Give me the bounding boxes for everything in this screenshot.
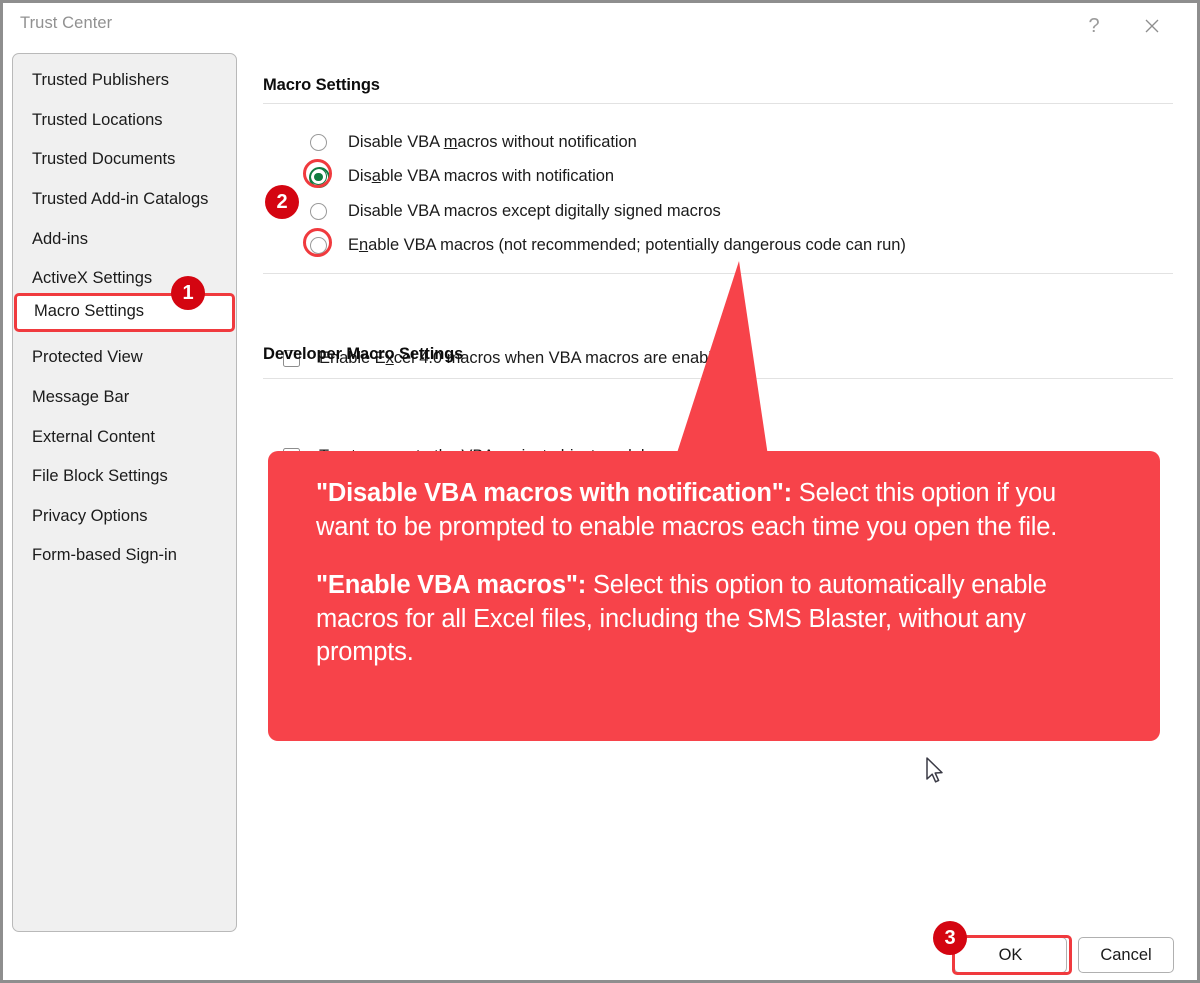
radio-icon[interactable] [310, 237, 327, 254]
sidebar-item-label: Privacy Options [32, 507, 148, 526]
sidebar-item-message-bar[interactable]: Message Bar [13, 378, 236, 418]
radio-icon[interactable] [310, 134, 327, 151]
title-bar: Trust Center ? [3, 3, 1197, 47]
radio-label-pre: Disable VBA macros except di [348, 202, 568, 220]
radio-label: Enable VBA macros (not recommended; pote… [348, 236, 906, 255]
mouse-cursor [925, 757, 947, 787]
cancel-button-label: Cancel [1100, 946, 1151, 965]
window-title: Trust Center [20, 14, 112, 33]
sidebar-item-label: Form-based Sign-in [32, 546, 177, 565]
radio-label-post: itally signed macros [577, 202, 721, 220]
sidebar-item-label: Protected View [32, 348, 143, 367]
sidebar-item-trusted-documents[interactable]: Trusted Documents [13, 140, 236, 180]
radio-label: Disable VBA macros with notification [348, 167, 614, 186]
sidebar-item-add-ins[interactable]: Add-ins [13, 219, 236, 259]
radio-label-post: acros without notification [457, 133, 636, 151]
sidebar-item-label: ActiveX Settings [32, 269, 152, 288]
radio-label-pre: Disable VBA [348, 133, 444, 151]
callout-p2-bold: "Enable VBA macros": [316, 571, 586, 599]
ok-button-label: OK [999, 946, 1023, 965]
radio-label-accel: a [372, 167, 381, 185]
radio-label: Disable VBA macros except digitally sign… [348, 202, 721, 221]
sidebar-item-trusted-locations[interactable]: Trusted Locations [13, 101, 236, 141]
radio-label: Disable VBA macros without notification [348, 133, 637, 152]
sidebar-item-trusted-publishers[interactable]: Trusted Publishers [13, 61, 236, 101]
radio-icon[interactable] [310, 203, 327, 220]
step-badge-2: 2 [265, 185, 299, 219]
callout-p1-bold: "Disable VBA macros with notification": [316, 479, 792, 507]
sidebar-item-file-block-settings[interactable]: File Block Settings [13, 457, 236, 497]
sidebar-item-label: File Block Settings [32, 467, 168, 486]
cancel-button[interactable]: Cancel [1078, 937, 1174, 973]
trust-center-dialog: Trust Center ? Trusted Publishers Truste… [0, 0, 1200, 983]
sidebar-item-label: Message Bar [32, 388, 129, 407]
sidebar-item-privacy-options[interactable]: Privacy Options [13, 497, 236, 537]
divider-macro-settings [263, 103, 1173, 104]
close-icon[interactable] [1129, 6, 1175, 46]
radio-label-accel: n [359, 236, 368, 254]
developer-macro-settings-heading: Developer Macro Settings [263, 345, 463, 364]
macro-settings-radio-group[interactable]: Disable VBA macros without notification … [310, 125, 906, 263]
category-sidebar[interactable]: Trusted Publishers Trusted Locations Tru… [12, 53, 237, 932]
sidebar-item-label: Trusted Locations [32, 111, 163, 130]
window-border-left [0, 0, 3, 983]
sidebar-selected-label: Macro Settings [34, 302, 144, 321]
radio-label-accel: m [444, 133, 458, 151]
macro-settings-heading: Macro Settings [263, 76, 380, 95]
radio-icon-selected[interactable] [310, 168, 327, 185]
radio-label-accel: g [568, 202, 577, 220]
radio-label-post: ble VBA macros with notification [381, 167, 614, 185]
sidebar-item-protected-view[interactable]: Protected View [13, 338, 236, 378]
radio-label-pre: E [348, 236, 359, 254]
sidebar-item-label: Trusted Add-in Catalogs [32, 190, 208, 209]
divider-above-excel4 [263, 273, 1173, 274]
ok-button[interactable]: OK [954, 937, 1067, 973]
callout-paragraph-1: "Disable VBA macros with notification": … [316, 477, 1114, 544]
radio-option-disable-except-signed[interactable]: Disable VBA macros except digitally sign… [310, 194, 906, 229]
sidebar-item-trusted-addin-catalogs[interactable]: Trusted Add-in Catalogs [13, 180, 236, 220]
radio-option-enable-vba-macros[interactable]: Enable VBA macros (not recommended; pote… [310, 229, 906, 264]
callout-paragraph-2: "Enable VBA macros": Select this option … [316, 569, 1114, 670]
help-icon[interactable]: ? [1071, 6, 1117, 46]
step-badge-3: 3 [933, 921, 967, 955]
sidebar-item-form-based-sign-in[interactable]: Form-based Sign-in [13, 536, 236, 576]
radio-label-pre: Dis [348, 167, 372, 185]
radio-option-disable-with-notification[interactable]: Disable VBA macros with notification [310, 160, 906, 195]
sidebar-item-label: External Content [32, 428, 155, 447]
sidebar-item-label: Add-ins [32, 230, 88, 249]
instruction-callout: "Disable VBA macros with notification": … [268, 451, 1160, 741]
sidebar-item-external-content[interactable]: External Content [13, 417, 236, 457]
divider-developer-macro-settings [263, 378, 1173, 379]
radio-label-post: able VBA macros (not recommended; potent… [368, 236, 906, 254]
sidebar-item-label: Trusted Documents [32, 150, 175, 169]
sidebar-item-label: Trusted Publishers [32, 71, 169, 90]
step-badge-1: 1 [171, 276, 205, 310]
radio-option-disable-without-notification[interactable]: Disable VBA macros without notification [310, 125, 906, 160]
